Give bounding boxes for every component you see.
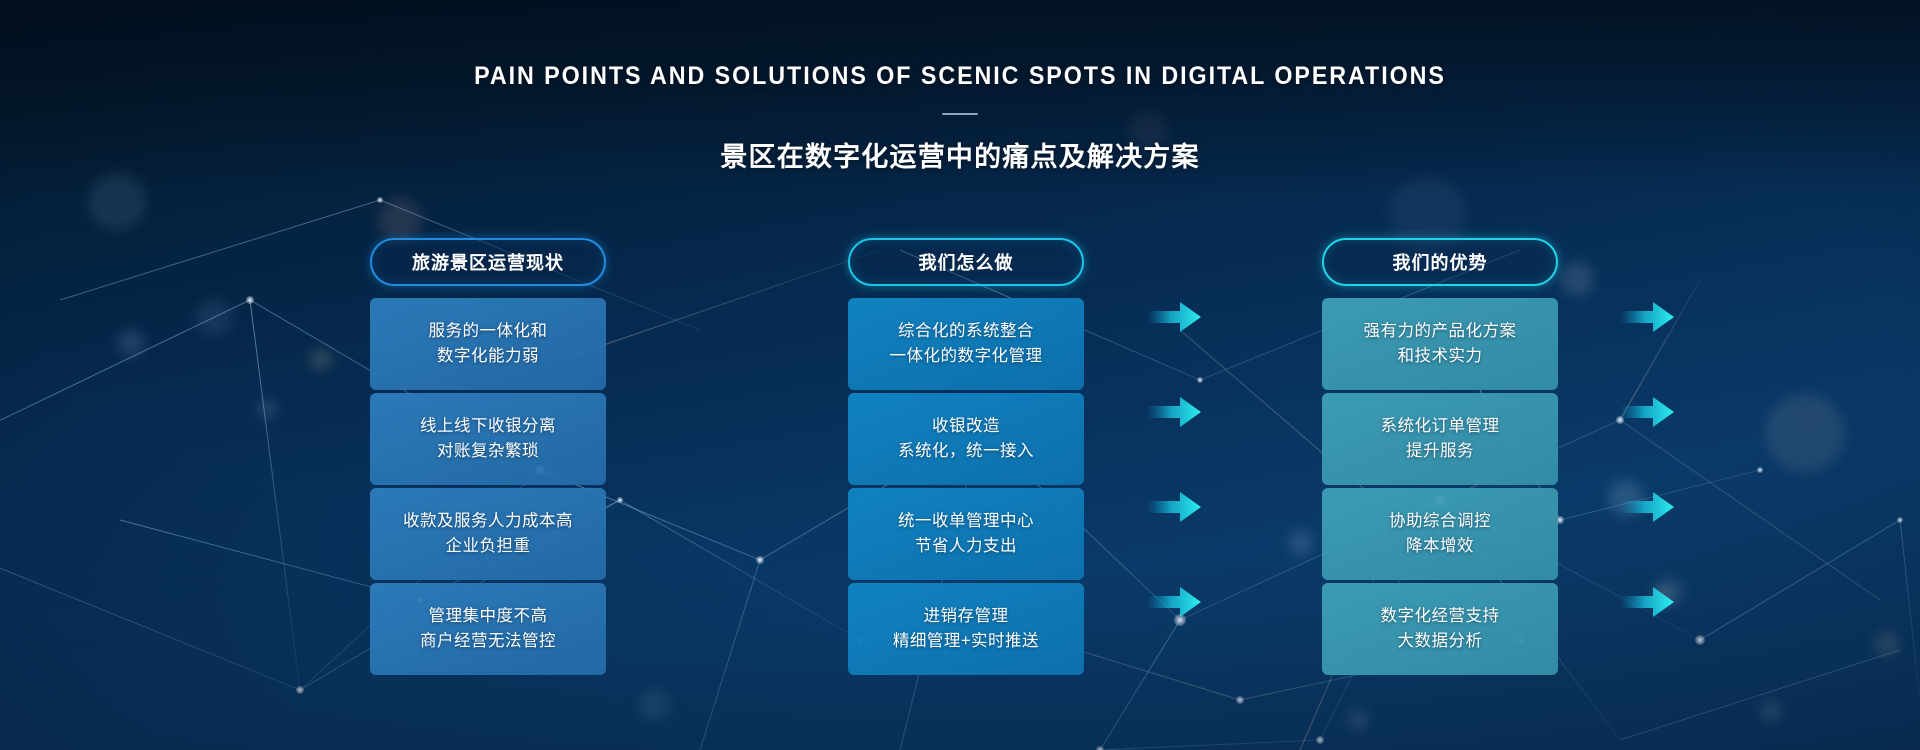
column-heading-what-we-do[interactable]: 我们怎么做 [848, 238, 1084, 286]
card-line-2: 企业负担重 [446, 534, 531, 559]
card-line-1: 统一收单管理中心 [898, 509, 1034, 534]
card-line-1: 进销存管理 [924, 604, 1009, 629]
card-line-1: 协助综合调控 [1389, 509, 1491, 534]
page-header: PAIN POINTS AND SOLUTIONS OF SCENIC SPOT… [0, 62, 1920, 174]
card-line-1: 收银改造 [932, 414, 1000, 439]
card-line-2: 提升服务 [1406, 439, 1474, 464]
card-item[interactable]: 管理集中度不高 商户经营无法管控 [370, 583, 606, 675]
card-item[interactable]: 收银改造 系统化，统一接入 [848, 393, 1084, 485]
card-line-1: 服务的一体化和 [429, 319, 548, 344]
card-item[interactable]: 线上线下收银分离 对账复杂繁琐 [370, 393, 606, 485]
card-item[interactable]: 强有力的产品化方案 和技术实力 [1322, 298, 1558, 390]
arrow-right-icon [1147, 395, 1201, 429]
card-item[interactable]: 系统化订单管理 提升服务 [1322, 393, 1558, 485]
card-line-1: 收款及服务人力成本高 [403, 509, 573, 534]
card-item[interactable]: 服务的一体化和 数字化能力弱 [370, 298, 606, 390]
comparison-board: 旅游景区运营现状 服务的一体化和 数字化能力弱 线上线下收银分离 对账复杂繁琐 … [0, 238, 1920, 688]
card-line-2: 和技术实力 [1398, 344, 1483, 369]
card-line-2: 对账复杂繁琐 [437, 439, 539, 464]
card-line-1: 系统化订单管理 [1381, 414, 1500, 439]
column-heading-our-advantages[interactable]: 我们的优势 [1322, 238, 1558, 286]
card-item[interactable]: 统一收单管理中心 节省人力支出 [848, 488, 1084, 580]
arrow-right-icon [1620, 395, 1674, 429]
card-line-2: 大数据分析 [1398, 629, 1483, 654]
arrow-right-icon [1147, 585, 1201, 619]
card-line-1: 线上线下收银分离 [420, 414, 556, 439]
card-line-1: 强有力的产品化方案 [1364, 319, 1517, 344]
column-our-advantages: 我们的优势 强有力的产品化方案 和技术实力 系统化订单管理 提升服务 协助综合调… [1322, 238, 1558, 675]
card-line-1: 管理集中度不高 [429, 604, 548, 629]
page-title-english: PAIN POINTS AND SOLUTIONS OF SCENIC SPOT… [67, 62, 1853, 91]
card-line-1: 数字化经营支持 [1381, 604, 1500, 629]
card-item[interactable]: 协助综合调控 降本增效 [1322, 488, 1558, 580]
card-line-2: 数字化能力弱 [437, 344, 539, 369]
card-line-2: 系统化，统一接入 [898, 439, 1034, 464]
page-title-chinese: 景区在数字化运营中的痛点及解决方案 [0, 135, 1920, 174]
card-line-2: 节省人力支出 [915, 534, 1017, 559]
arrow-right-icon [1147, 490, 1201, 524]
card-line-2: 商户经营无法管控 [420, 629, 556, 654]
card-line-2: 一体化的数字化管理 [890, 344, 1043, 369]
card-list-what-we-do: 综合化的系统整合 一体化的数字化管理 收银改造 系统化，统一接入 统一收单管理中… [848, 298, 1084, 675]
card-item[interactable]: 综合化的系统整合 一体化的数字化管理 [848, 298, 1084, 390]
title-divider [942, 113, 978, 115]
arrow-right-icon [1620, 585, 1674, 619]
card-item[interactable]: 数字化经营支持 大数据分析 [1322, 583, 1558, 675]
column-what-we-do: 我们怎么做 综合化的系统整合 一体化的数字化管理 收银改造 系统化，统一接入 统… [848, 238, 1084, 675]
column-heading-current-status[interactable]: 旅游景区运营现状 [370, 238, 606, 286]
card-list-current-status: 服务的一体化和 数字化能力弱 线上线下收银分离 对账复杂繁琐 收款及服务人力成本… [370, 298, 606, 675]
card-line-1: 综合化的系统整合 [898, 319, 1034, 344]
card-item[interactable]: 收款及服务人力成本高 企业负担重 [370, 488, 606, 580]
card-item[interactable]: 进销存管理 精细管理+实时推送 [848, 583, 1084, 675]
card-line-2: 降本增效 [1406, 534, 1474, 559]
arrow-right-icon [1620, 490, 1674, 524]
arrow-right-icon [1147, 300, 1201, 334]
card-list-our-advantages: 强有力的产品化方案 和技术实力 系统化订单管理 提升服务 协助综合调控 降本增效… [1322, 298, 1558, 675]
card-line-2: 精细管理+实时推送 [893, 629, 1039, 654]
column-current-status: 旅游景区运营现状 服务的一体化和 数字化能力弱 线上线下收银分离 对账复杂繁琐 … [370, 238, 606, 675]
arrow-right-icon [1620, 300, 1674, 334]
